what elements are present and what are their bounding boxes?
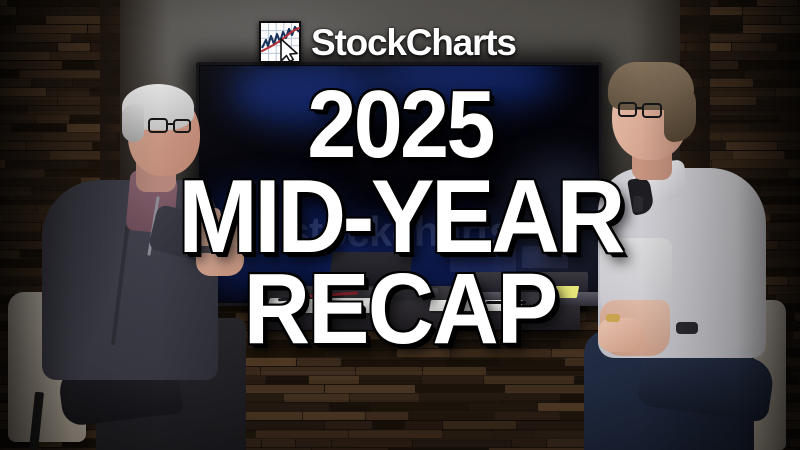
stockcharts-logo: StockCharts — [258, 20, 516, 64]
video-thumbnail: stockcharts — [0, 0, 800, 450]
stock-chart-cursor-icon — [258, 20, 302, 64]
title-overlay: 2025 MID-YEAR RECAP — [0, 84, 800, 352]
stockcharts-wordmark: StockCharts — [311, 24, 516, 61]
title-line-2: MID-YEAR — [32, 173, 768, 262]
title-line-1: 2025 — [32, 84, 768, 167]
title-line-3: RECAP — [32, 266, 768, 352]
